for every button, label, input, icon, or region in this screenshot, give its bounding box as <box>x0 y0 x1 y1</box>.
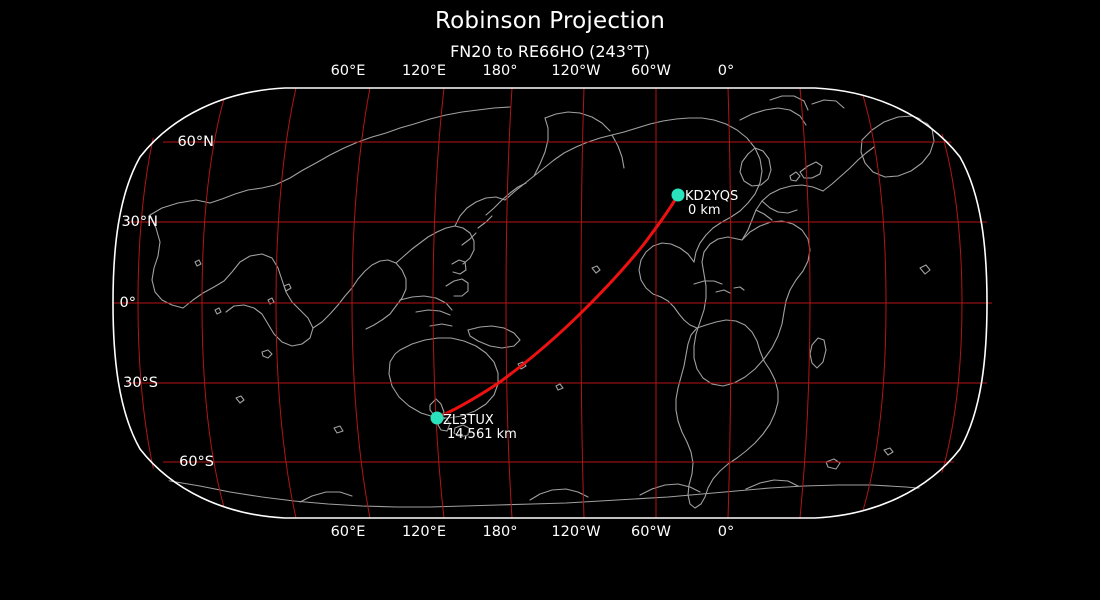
marker-callsign-kd2yqs: KD2YQS <box>685 189 738 204</box>
lat-label-0: 60°N <box>177 134 214 150</box>
lat-label-4: 60°S <box>179 454 214 470</box>
lon-label-top-2: 180° <box>483 63 518 79</box>
lon-label-top-4: 60°W <box>631 63 671 79</box>
lon-label-top-5: 0° <box>718 63 734 79</box>
marker-dot-kd2yqs <box>672 189 685 202</box>
lon-label-bottom-4: 60°W <box>631 524 671 540</box>
marker-distance-kd2yqs: 0 km <box>688 203 721 218</box>
lon-label-bottom-1: 120°E <box>402 524 446 540</box>
lon-label-bottom-2: 180° <box>483 524 518 540</box>
lon-label-bottom-5: 0° <box>718 524 734 540</box>
marker-distance-zl3tux: 14,561 km <box>447 427 517 442</box>
lon-label-top-3: 120°W <box>551 63 600 79</box>
lon-label-bottom-3: 120°W <box>551 524 600 540</box>
lon-label-bottom-0: 60°E <box>331 524 366 540</box>
lon-label-top-1: 120°E <box>402 63 446 79</box>
lat-label-3: 30°S <box>123 375 158 391</box>
lon-label-top-0: 60°E <box>331 63 366 79</box>
robinson-map <box>0 0 1100 600</box>
marker-dot-zl3tux <box>431 412 444 425</box>
marker-callsign-zl3tux: ZL3TUX <box>443 413 494 428</box>
lat-label-1: 30°N <box>121 214 158 230</box>
lat-label-2: 0° <box>120 295 136 311</box>
map-figure: Robinson Projection FN20 to RE66HO (243°… <box>0 0 1100 600</box>
